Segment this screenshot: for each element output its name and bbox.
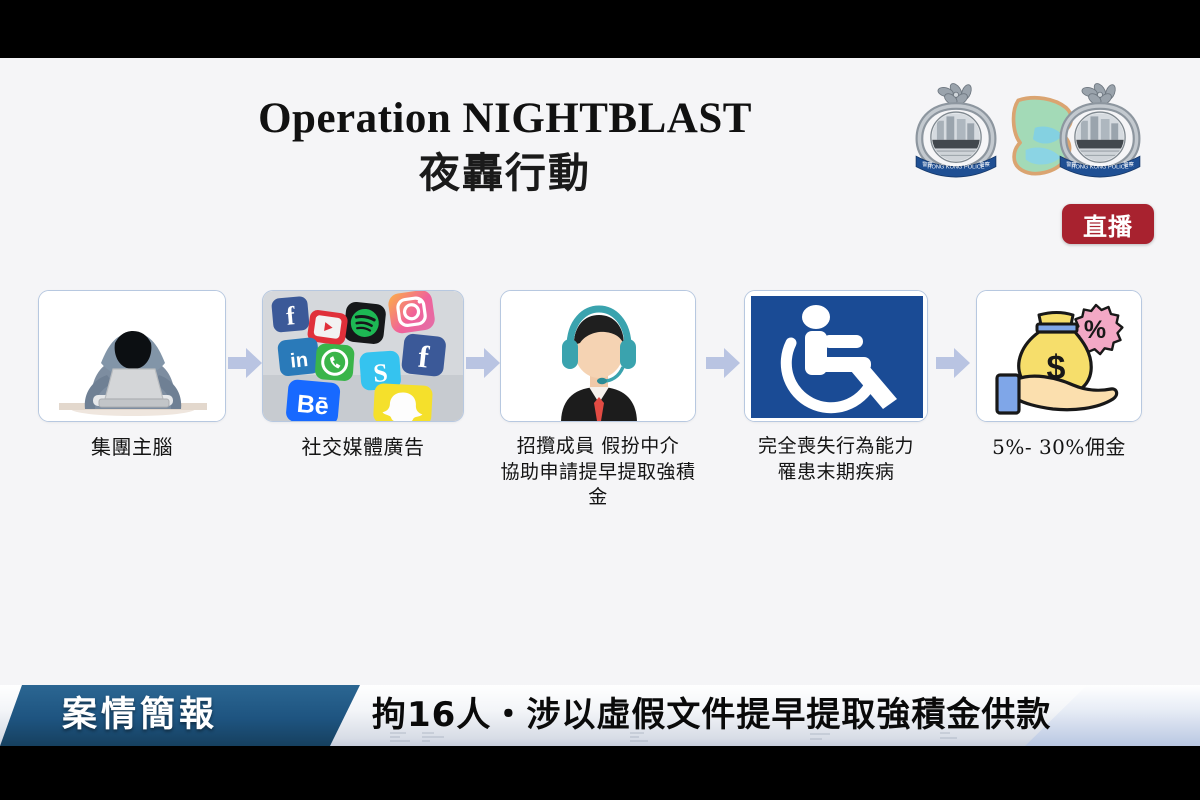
flow-step-total-incapacity: 完全喪失行為能力 罹患末期疾病	[744, 290, 928, 485]
page-title-english: Operation NIGHTBLAST	[0, 96, 1010, 141]
svg-text:警察: 警察	[979, 160, 989, 168]
svg-text:HONG KONG POLICE: HONG KONG POLICE	[927, 164, 984, 170]
letterbox-bar-bottom	[0, 746, 1200, 800]
social-media-logos-icon: f f	[263, 291, 464, 422]
call-centre-agent-image-card	[500, 290, 696, 422]
call-centre-agent-headset-icon	[501, 291, 696, 422]
flow-step-caption: 招攬成員 假扮中介 協助申請提早提取強積金	[500, 434, 696, 511]
flow-arrow-icon	[228, 348, 262, 378]
hand-holding-money-bag-percent-icon: % $	[977, 291, 1142, 422]
lower-third-banner: 案情簡報 拘16人・涉以虛假文件提早提取強積金供款	[0, 685, 1200, 746]
banner-category-label: 案情簡報	[62, 685, 218, 746]
svg-text:%: %	[1084, 316, 1106, 344]
live-broadcast-badge: 直播	[1062, 204, 1154, 244]
presentation-slide: Operation NIGHTBLAST 夜轟行動	[0, 58, 1200, 746]
commission-icon-card: % $	[976, 290, 1142, 422]
wheelchair-accessibility-icon	[745, 291, 928, 422]
wheelchair-sign-card	[744, 290, 928, 422]
flow-step-mastermind: 集團主腦	[38, 290, 226, 461]
flow-step-social-media-ads: f f	[262, 290, 464, 461]
broadcast-screen: Operation NIGHTBLAST 夜轟行動	[0, 0, 1200, 800]
svg-text:HONG KONG POLICE: HONG KONG POLICE	[1071, 164, 1128, 170]
flow-step-recruit-fake-agents: 招攬成員 假扮中介 協助申請提早提取強積金	[500, 290, 696, 511]
branding-area: HONG KONG POLICE 警察 警察	[898, 68, 1188, 258]
flow-arrow-icon	[706, 348, 740, 378]
flow-step-caption: 5%- 30%佣金	[976, 434, 1142, 461]
hooded-hacker-laptop-icon	[39, 291, 226, 422]
svg-text:警察: 警察	[1066, 160, 1076, 168]
flow-step-caption: 完全喪失行為能力 罹患末期疾病	[744, 434, 928, 485]
page-title-chinese: 夜轟行動	[0, 151, 1010, 196]
flow-arrow-icon	[936, 348, 970, 378]
slide-title-block: Operation NIGHTBLAST 夜轟行動	[0, 96, 1010, 196]
hong-kong-police-emblem-icon: HONG KONG POLICE 警察 警察	[904, 80, 1008, 184]
svg-text:警察: 警察	[922, 160, 932, 168]
svg-text:S: S	[372, 358, 388, 388]
svg-text:Bē: Bē	[296, 390, 330, 421]
flow-step-commission: % $ 5%- 30%佣金	[976, 290, 1142, 461]
svg-text:in: in	[289, 349, 309, 373]
live-broadcast-label: 直播	[1083, 207, 1133, 242]
svg-text:警察: 警察	[1123, 160, 1133, 168]
letterbox-bar-top	[0, 0, 1200, 58]
hong-kong-police-emblem-icon-secondary: HONG KONG POLICE 警察 警察	[1048, 80, 1152, 184]
modus-operandi-flow: 集團主腦	[0, 290, 1200, 540]
flow-arrow-icon	[466, 348, 500, 378]
mastermind-image-card	[38, 290, 226, 422]
social-media-image-card: f f	[262, 290, 464, 422]
flow-step-caption: 社交媒體廣告	[262, 434, 464, 461]
flow-step-caption: 集團主腦	[38, 434, 226, 461]
banner-headline: 拘16人・涉以虛假文件提早提取強積金供款	[372, 685, 1051, 746]
